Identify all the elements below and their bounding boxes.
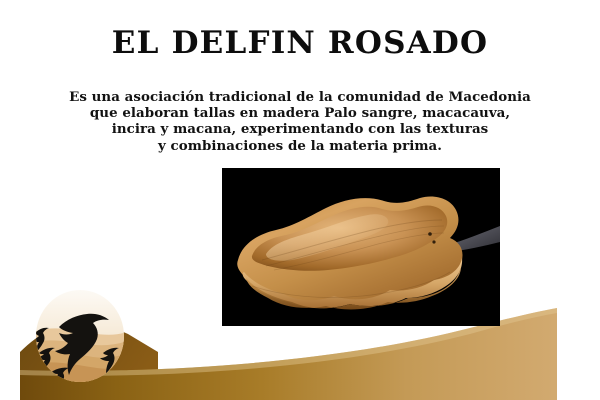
page-title: EL DELFIN ROSADO (0, 26, 600, 60)
sand-wave-4 (31, 362, 129, 383)
eye-dot (428, 232, 432, 236)
artwork-photo (222, 168, 500, 326)
slide-canvas: EL DELFIN ROSADO Es una asociación tradi… (0, 0, 600, 400)
eye-dot-secondary (432, 240, 435, 243)
logo-scene (31, 289, 129, 383)
carving-illustration (222, 168, 500, 326)
logo-svg (31, 289, 129, 383)
body-paragraph: Es una asociación tradicional de la comu… (22, 89, 578, 154)
delfin-rosado-logo (31, 289, 129, 383)
carving-svg (222, 168, 500, 326)
